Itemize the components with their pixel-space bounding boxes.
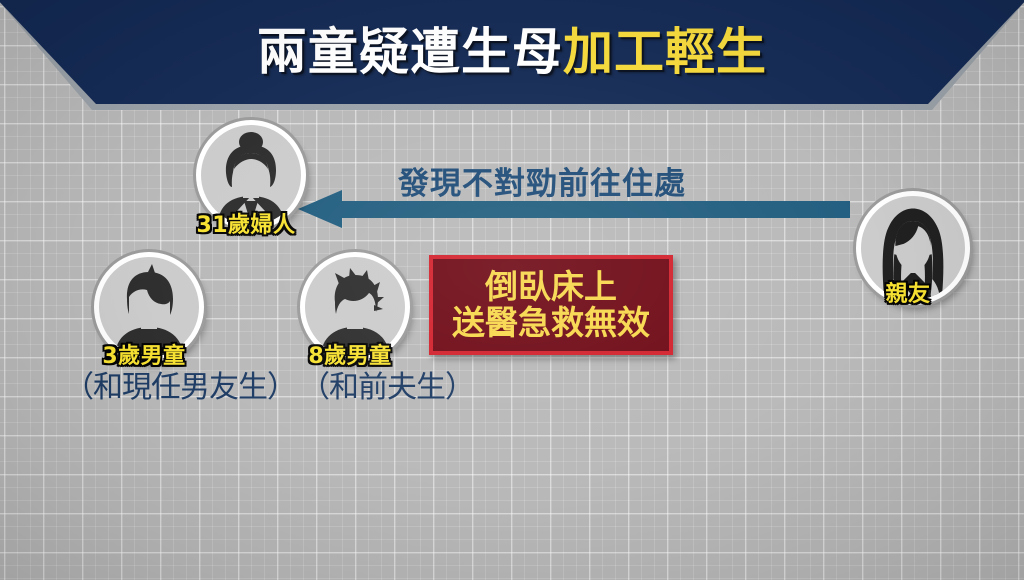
callout-line-1: 倒臥床上 (485, 269, 617, 305)
title-primary-text: 兩童疑遭生母 (257, 27, 563, 77)
avatar-sublabel-child-young: （和現任男友生） (64, 362, 296, 406)
status-callout-box: 倒臥床上 送醫急救無效 (429, 255, 673, 355)
avatar-label-mother: 31歲婦人 (196, 207, 296, 239)
infographic-canvas: 兩童疑遭生母加工輕生 發現不對勁前往住處 31歲婦人 (0, 0, 1024, 580)
avatar-label-friend: 親友 (856, 276, 960, 308)
page-title: 兩童疑遭生母加工輕生 (0, 0, 1024, 104)
callout-line-2: 送醫急救無效 (452, 305, 650, 341)
avatar-sublabel-child-old: （和前夫生） (300, 362, 474, 406)
title-highlight-text: 加工輕生 (563, 27, 767, 77)
flow-arrow-label: 發現不對勁前往住處 (398, 158, 686, 203)
